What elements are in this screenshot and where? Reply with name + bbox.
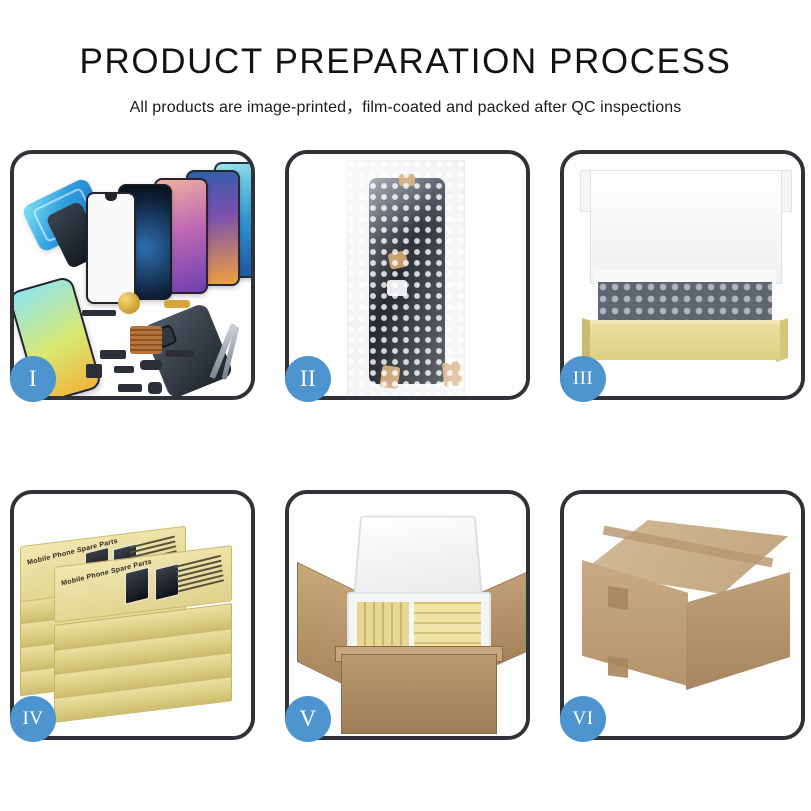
screen-protector-glass bbox=[86, 192, 136, 304]
process-row-top: I II bbox=[10, 150, 805, 400]
speaker-component bbox=[118, 292, 140, 314]
process-row-bottom: Mobile Phone Spare Parts Mobile Phone Sp… bbox=[10, 490, 805, 740]
panel-step-1[interactable]: I bbox=[10, 150, 255, 400]
foam-lid bbox=[353, 516, 482, 595]
box-text-lines bbox=[175, 555, 225, 599]
component-bar bbox=[166, 350, 194, 357]
panel-step-4[interactable]: Mobile Phone Spare Parts Mobile Phone Sp… bbox=[10, 490, 255, 740]
box-stack-front: Mobile Phone Spare Parts bbox=[54, 556, 232, 712]
sealed-carton-illustration bbox=[564, 494, 801, 736]
component-bar bbox=[100, 350, 126, 359]
step-badge-5: V bbox=[285, 696, 331, 742]
component-bar bbox=[82, 310, 116, 316]
box-front-panel bbox=[590, 324, 780, 360]
component-bar bbox=[86, 364, 102, 378]
step-badge-6: VI bbox=[560, 696, 606, 742]
bubble-wrap-illustration bbox=[289, 154, 526, 396]
step-badge-1: I bbox=[10, 356, 56, 402]
box-stacks-illustration: Mobile Phone Spare Parts Mobile Phone Sp… bbox=[14, 494, 251, 736]
tape-tab bbox=[608, 586, 628, 610]
header: PRODUCT PREPARATION PROCESS All products… bbox=[0, 44, 811, 117]
step-badge-4: IV bbox=[10, 696, 56, 742]
carton-loading-illustration bbox=[289, 494, 526, 736]
bubble-wrap-sleeve bbox=[347, 160, 465, 396]
gold-connector bbox=[164, 300, 190, 308]
panel-step-5[interactable]: V bbox=[285, 490, 530, 740]
panel-step-3[interactable]: III bbox=[560, 150, 805, 400]
component-bar bbox=[140, 360, 162, 370]
component-bar bbox=[148, 382, 162, 394]
step-badge-3: III bbox=[560, 356, 606, 402]
tape-tab bbox=[608, 656, 628, 678]
carton-body bbox=[341, 654, 497, 734]
panel-step-2[interactable]: II bbox=[285, 150, 530, 400]
page-title: PRODUCT PREPARATION PROCESS bbox=[0, 44, 811, 79]
component-bar bbox=[114, 366, 134, 373]
component-bar bbox=[118, 384, 142, 392]
process-grid: I II bbox=[10, 150, 805, 740]
panel-step-6[interactable]: VI bbox=[560, 490, 805, 740]
inner-box-illustration bbox=[564, 154, 801, 396]
spare-parts-illustration bbox=[14, 154, 251, 396]
box-screen-image bbox=[125, 567, 149, 605]
plastic-sheen bbox=[347, 160, 465, 396]
page-subtitle: All products are image-printed，film-coat… bbox=[0, 93, 811, 117]
step-badge-2: II bbox=[285, 356, 331, 402]
box-lid bbox=[590, 170, 782, 284]
copper-chip bbox=[130, 326, 162, 354]
